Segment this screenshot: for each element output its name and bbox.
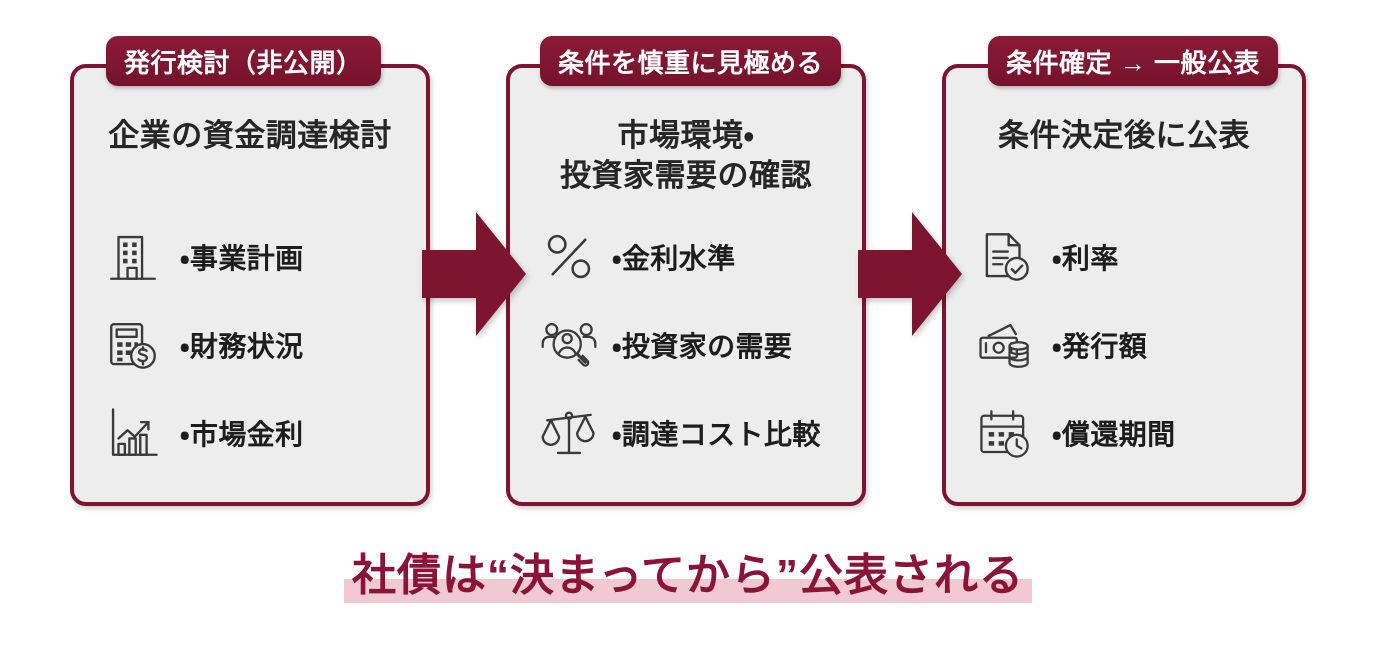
list-item: ・調達コスト比較 [536,400,862,466]
list-item-label: ・事業計画 [180,237,304,277]
process-step-card-3: 条件確定 → 一般公表 条件決定後に公表 ・利率 [942,64,1306,506]
list-item: ・金利水準 [536,224,862,290]
step-3-header-pill: 条件確定 → 一般公表 [988,36,1278,86]
step-2-item-list: ・金利水準 [510,224,862,488]
step-2-title-line-1: 市場環境・ [510,116,862,156]
calculator-dollar-icon [100,312,166,378]
step-2-title: 市場環境・ 投資家需要の確認 [510,116,862,195]
step-3-title-line-1: 条件決定後に公表 [946,116,1302,156]
office-building-icon [100,224,166,290]
cash-coins-icon [972,312,1038,378]
list-item-label: ・償還期間 [1052,413,1176,453]
calendar-clock-icon [972,400,1038,466]
bar-chart-growth-icon [100,400,166,466]
people-search-icon [536,312,602,378]
step-1-title-line-1: 企業の資金調達検討 [74,116,426,156]
process-step-card-1: 発行検討（非公開） 企業の資金調達検討 [70,64,430,506]
flow-arrow-1 [422,212,526,336]
step-3-title: 条件決定後に公表 [946,116,1302,156]
list-item: ・事業計画 [100,224,426,290]
flow-arrow-2 [858,212,962,336]
summary-caption-wrap: 社債は“決まってから”公表される [0,536,1376,616]
bond-issuance-process-infographic: 発行検討（非公開） 企業の資金調達検討 [0,0,1376,660]
list-item-label: ・投資家の需要 [612,325,792,365]
list-item: ・財務状況 [100,312,426,378]
step-2-title-line-2: 投資家需要の確認 [510,156,862,196]
list-item: ・市場金利 [100,400,426,466]
list-item-label: ・金利水準 [612,237,736,277]
step-3-item-list: ・利率 [946,224,1302,488]
list-item-label: ・利率 [1052,237,1119,277]
list-item-label: ・財務状況 [180,325,304,365]
list-item: ・発行額 [972,312,1302,378]
list-item: ・投資家の需要 [536,312,862,378]
document-check-icon [972,224,1038,290]
process-steps-row: 発行検討（非公開） 企業の資金調達検討 [0,0,1376,520]
list-item-label: ・調達コスト比較 [612,413,821,453]
list-item: ・利率 [972,224,1302,290]
list-item: ・償還期間 [972,400,1302,466]
list-item-label: ・発行額 [1052,325,1147,365]
list-item-label: ・市場金利 [180,413,304,453]
step-1-header-pill: 発行検討（非公開） [106,36,381,86]
step-1-title: 企業の資金調達検討 [74,116,426,156]
summary-caption: 社債は“決まってから”公表される [344,553,1032,599]
step-2-header-pill: 条件を慎重に見極める [540,36,841,86]
process-step-card-2: 条件を慎重に見極める 市場環境・ 投資家需要の確認 ・金利水準 [506,64,866,506]
balance-scale-icon [536,400,602,466]
step-1-item-list: ・事業計画 [74,224,426,488]
caption-text: 社債は“決まってから”公表される [352,551,1024,600]
percent-icon [536,224,602,290]
